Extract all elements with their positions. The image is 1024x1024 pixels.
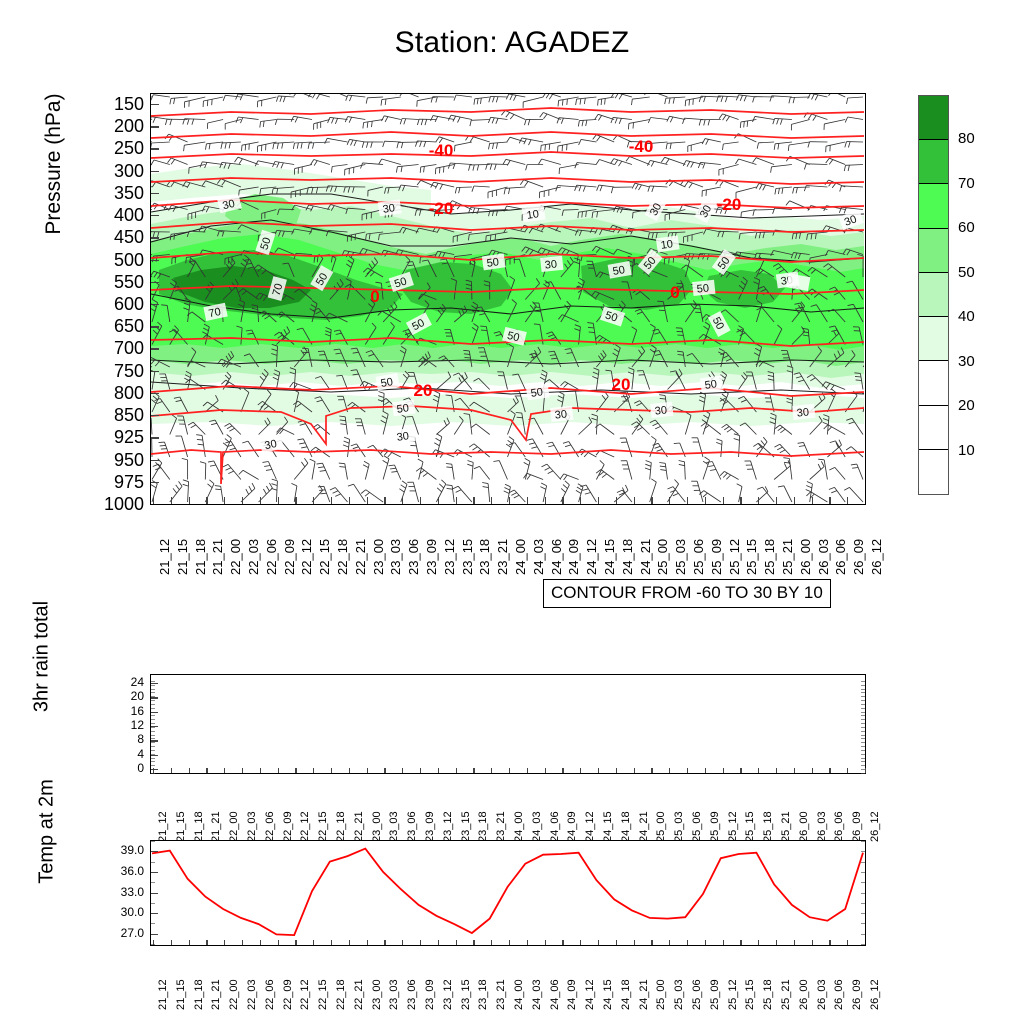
time-label-25_12: 25_12 <box>727 979 739 1010</box>
pressure-tick-250: 250 <box>88 139 144 157</box>
colorbar-band-6 <box>919 361 948 405</box>
colorbar-label-70: 70 <box>958 177 975 191</box>
pressure-tick-300: 300 <box>88 162 144 180</box>
pressure-tickmark <box>151 215 159 216</box>
time-label-24_12: 24_12 <box>584 811 596 842</box>
rain-minor-tickmark <box>151 712 155 713</box>
rain-minor-tickmark <box>151 773 155 774</box>
time-label-21_12: 21_12 <box>157 539 172 575</box>
pressure-tick-450: 450 <box>88 228 144 246</box>
time-tickmark <box>705 940 706 945</box>
time-tickmark <box>776 768 777 773</box>
time-label-25_21: 25_21 <box>780 979 792 1010</box>
time-axis-ticks <box>151 94 865 504</box>
time-tickmark <box>456 497 457 504</box>
rain-minor-tickmark <box>861 708 865 709</box>
temp-axis-label: Temp at 2m <box>36 742 59 922</box>
time-label-25_06: 25_06 <box>691 979 703 1010</box>
rain-minor-tickmark <box>861 750 865 751</box>
rain-minor-tickmark <box>861 735 865 736</box>
pressure-axis-ticks: 1502002503003504004505005506006507007508… <box>80 93 144 505</box>
time-label-23_12: 23_12 <box>442 979 454 1010</box>
pressure-tick-350: 350 <box>88 184 144 202</box>
time-label-22_15: 22_15 <box>317 811 329 842</box>
time-tickmark <box>473 940 474 945</box>
time-tickmark <box>402 497 403 504</box>
time-tickmark <box>384 768 385 773</box>
time-tickmark <box>812 768 813 773</box>
time-label-22_15: 22_15 <box>317 979 329 1010</box>
time-tickmark <box>206 497 207 504</box>
time-label-24_21: 24_21 <box>638 539 653 575</box>
temperature-2m-plot[interactable] <box>150 840 866 946</box>
time-label-26_12: 26_12 <box>869 811 881 842</box>
time-label-23_15: 23_15 <box>460 539 475 575</box>
time-label-22_09: 22_09 <box>282 979 294 1010</box>
rain-minor-tickmark <box>151 719 155 720</box>
time-tickmark <box>278 768 279 773</box>
rain-time-ticks <box>151 675 865 773</box>
time-tickmark <box>438 940 439 945</box>
time-tickmark <box>420 497 421 504</box>
time-tickmark <box>367 497 368 504</box>
time-label-21_18: 21_18 <box>193 811 205 842</box>
rain-minor-tickmark <box>151 765 155 766</box>
pressure-tick-550: 550 <box>88 273 144 291</box>
time-tickmark <box>776 497 777 504</box>
time-tickmark <box>687 768 688 773</box>
time-tickmark <box>598 940 599 945</box>
time-label-25_12: 25_12 <box>727 811 739 842</box>
pressure-tick-800: 800 <box>88 384 144 402</box>
time-label-26_06: 26_06 <box>833 979 845 1010</box>
time-tickmark <box>740 768 741 773</box>
time-label-21_18: 21_18 <box>193 979 205 1010</box>
time-label-24_21: 24_21 <box>638 811 650 842</box>
temp-minor-tickmark <box>151 841 155 842</box>
pressure-tickmark <box>151 460 159 461</box>
time-label-23_21: 23_21 <box>495 811 507 842</box>
rain-minor-tickmark <box>861 704 865 705</box>
time-tickmark <box>740 497 741 504</box>
time-label-21_21: 21_21 <box>210 539 225 575</box>
time-label-23_21: 23_21 <box>495 979 507 1010</box>
time-tickmark <box>278 497 279 504</box>
time-label-24_18: 24_18 <box>620 539 635 575</box>
time-tickmark <box>794 497 795 504</box>
time-tickmark <box>402 940 403 945</box>
time-label-23_12: 23_12 <box>442 811 454 842</box>
time-label-24_03: 24_03 <box>531 539 546 575</box>
time-tickmark <box>384 497 385 504</box>
time-label-21_15: 21_15 <box>175 539 190 575</box>
rain-tick-20: 20 <box>96 690 144 702</box>
time-label-22_12: 22_12 <box>299 539 314 575</box>
colorbar-label-30: 30 <box>958 355 975 369</box>
rain-minor-tickmark <box>151 769 155 770</box>
time-tickmark <box>562 768 563 773</box>
pressure-tick-400: 400 <box>88 206 144 224</box>
pressure-tickmark <box>151 260 159 261</box>
time-tickmark <box>313 497 314 504</box>
rain-minor-tickmark <box>151 704 155 705</box>
pressure-tickmark <box>151 237 159 238</box>
temp-minor-tickmark <box>151 893 155 894</box>
time-label-22_12: 22_12 <box>299 979 311 1010</box>
rain-minor-tickmark <box>151 742 155 743</box>
time-tickmark <box>384 940 385 945</box>
time-label-23_21: 23_21 <box>495 539 510 575</box>
rain-minor-tickmark <box>861 758 865 759</box>
time-label-26_00: 26_00 <box>798 979 810 1010</box>
time-tickmark <box>420 940 421 945</box>
time-label-26_00: 26_00 <box>798 811 810 842</box>
time-label-25_09: 25_09 <box>709 539 724 575</box>
time-tickmark <box>545 497 546 504</box>
time-label-22_12: 22_12 <box>299 811 311 842</box>
time-label-21_15: 21_15 <box>175 811 187 842</box>
time-label-26_00: 26_00 <box>798 539 813 575</box>
time-label-21_12: 21_12 <box>157 811 169 842</box>
time-tickmark <box>616 940 617 945</box>
pressure-tick-925: 925 <box>88 428 144 446</box>
time-tickmark <box>651 940 652 945</box>
rain-minor-tickmark <box>151 681 155 682</box>
colorbar-band-0 <box>919 96 948 140</box>
time-label-23_15: 23_15 <box>460 979 472 1010</box>
time-label-25_06: 25_06 <box>691 539 706 575</box>
pressure-tick-975: 975 <box>88 473 144 491</box>
rain-axis-label: 3hr rain total <box>31 577 54 737</box>
pressure-tickmark <box>151 148 159 149</box>
time-tickmark <box>669 497 670 504</box>
time-label-24_09: 24_09 <box>566 979 578 1010</box>
time-label-24_06: 24_06 <box>549 979 561 1010</box>
temp-minor-tickmark <box>861 934 865 935</box>
temp-minor-tickmark <box>861 903 865 904</box>
time-label-25_00: 25_00 <box>655 811 667 842</box>
time-tickmark <box>527 497 528 504</box>
time-label-26_03: 26_03 <box>816 979 828 1010</box>
time-label-23_06: 23_06 <box>406 811 418 842</box>
time-label-26_06: 26_06 <box>833 539 848 575</box>
time-tickmark <box>847 768 848 773</box>
time-tickmark <box>669 940 670 945</box>
time-tickmark <box>331 940 332 945</box>
time-label-21_21: 21_21 <box>210 979 222 1010</box>
time-tickmark <box>651 497 652 504</box>
temp-tick-36: 36.0 <box>88 865 144 877</box>
time-label-25_03: 25_03 <box>673 979 685 1010</box>
pressure-axis-label: Pressure (hPa) <box>42 54 66 274</box>
time-tickmark <box>723 497 724 504</box>
time-label-24_15: 24_15 <box>602 811 614 842</box>
time-label-22_18: 22_18 <box>335 811 347 842</box>
temp-tick-27: 27.0 <box>88 927 144 939</box>
rain-minor-tickmark <box>861 731 865 732</box>
rain-tick-4: 4 <box>96 748 144 760</box>
rain-tick-24: 24 <box>96 676 144 688</box>
time-label-22_18: 22_18 <box>335 539 350 575</box>
rain-tick-8: 8 <box>96 733 144 745</box>
time-label-22_21: 22_21 <box>353 539 368 575</box>
pressure-tickmark <box>151 393 159 394</box>
time-label-22_06: 22_06 <box>264 539 279 575</box>
time-tickmark <box>723 768 724 773</box>
time-tickmark <box>473 497 474 504</box>
time-label-24_06: 24_06 <box>549 811 561 842</box>
time-tickmark <box>331 497 332 504</box>
time-tickmark <box>473 768 474 773</box>
time-tickmark <box>865 940 866 945</box>
temp-minor-tickmark <box>861 872 865 873</box>
time-tickmark <box>367 940 368 945</box>
rain-total-plot[interactable] <box>150 674 866 774</box>
temp-minor-tickmark <box>151 851 155 852</box>
time-label-24_06: 24_06 <box>549 539 564 575</box>
rain-minor-tickmark <box>151 700 155 701</box>
time-label-25_15: 25_15 <box>744 811 756 842</box>
time-tickmark <box>491 497 492 504</box>
time-label-23_03: 23_03 <box>388 979 400 1010</box>
time-tickmark <box>865 768 866 773</box>
time-tickmark <box>669 768 670 773</box>
rain-minor-tickmark <box>861 769 865 770</box>
time-tickmark <box>260 768 261 773</box>
time-tickmark <box>509 497 510 504</box>
rain-minor-tickmark <box>861 692 865 693</box>
time-label-23_15: 23_15 <box>460 811 472 842</box>
colorbar-label-20: 20 <box>958 399 975 413</box>
time-label-22_06: 22_06 <box>264 979 276 1010</box>
time-tickmark <box>224 940 225 945</box>
time-tickmark <box>295 768 296 773</box>
pressure-tick-200: 200 <box>88 117 144 135</box>
time-tickmark <box>545 768 546 773</box>
pressure-tickmark <box>151 504 159 505</box>
temp-minor-tickmark <box>861 851 865 852</box>
rain-minor-tickmark <box>861 765 865 766</box>
rain-minor-tickmark <box>151 761 155 762</box>
temp-minor-tickmark <box>861 923 865 924</box>
time-label-24_00: 24_00 <box>513 979 525 1010</box>
time-label-26_06: 26_06 <box>833 811 845 842</box>
time-label-24_00: 24_00 <box>513 811 525 842</box>
time-label-26_12: 26_12 <box>869 979 881 1010</box>
time-tickmark <box>331 768 332 773</box>
time-tickmark <box>829 497 830 504</box>
time-label-26_09: 26_09 <box>851 539 866 575</box>
colorbar-band-3 <box>919 229 948 273</box>
rain-minor-tickmark <box>151 750 155 751</box>
time-label-25_06: 25_06 <box>691 811 703 842</box>
time-tickmark <box>206 768 207 773</box>
time-tickmark <box>847 497 848 504</box>
rain-minor-tickmark <box>861 685 865 686</box>
time-label-24_09: 24_09 <box>566 811 578 842</box>
pressure-tickmark <box>151 104 159 105</box>
temp-minor-tickmark <box>861 882 865 883</box>
time-tickmark <box>705 768 706 773</box>
time-label-23_09: 23_09 <box>424 539 439 575</box>
time-label-24_18: 24_18 <box>620 811 632 842</box>
rain-minor-tickmark <box>861 742 865 743</box>
time-label-23_00: 23_00 <box>371 979 383 1010</box>
time-tickmark <box>812 497 813 504</box>
pressure-tick-950: 950 <box>88 451 144 469</box>
rain-minor-tickmark <box>861 715 865 716</box>
time-label-23_06: 23_06 <box>406 539 421 575</box>
temp-minor-tickmark <box>861 862 865 863</box>
time-label-21_18: 21_18 <box>193 539 208 575</box>
time-label-25_03: 25_03 <box>673 811 685 842</box>
time-label-25_00: 25_00 <box>655 539 670 575</box>
time-label-26_12: 26_12 <box>869 539 884 575</box>
colorbar-band-2 <box>919 184 948 228</box>
temp-minor-tickmark <box>861 893 865 894</box>
time-tickmark <box>420 768 421 773</box>
time-label-22_03: 22_03 <box>246 811 258 842</box>
time-label-22_15: 22_15 <box>317 539 332 575</box>
time-label-23_18: 23_18 <box>477 539 492 575</box>
rain-tick-12: 12 <box>96 719 144 731</box>
time-label-22_21: 22_21 <box>353 979 365 1010</box>
temp-axis-ticks: 39.036.033.030.027.0 <box>88 840 144 946</box>
time-label-24_03: 24_03 <box>531 811 543 842</box>
time-label-24_21: 24_21 <box>638 979 650 1010</box>
time-tickmark <box>295 940 296 945</box>
time-label-22_09: 22_09 <box>282 811 294 842</box>
pressure-tick-1000: 1000 <box>88 495 144 513</box>
time-tickmark <box>438 768 439 773</box>
time-label-26_03: 26_03 <box>816 539 831 575</box>
rain-minor-tickmark <box>151 689 155 690</box>
sounding-timeheight-plot[interactable]: 70 70 50 50 50 50 30 30 50 50 50 50 50 5… <box>150 93 866 505</box>
colorbar-band-5 <box>919 317 948 361</box>
pressure-tickmark <box>151 415 159 416</box>
time-tickmark <box>242 497 243 504</box>
time-label-25_15: 25_15 <box>744 539 759 575</box>
pressure-tickmark <box>151 304 159 305</box>
pressure-tickmark <box>151 282 159 283</box>
time-label-25_00: 25_00 <box>655 979 667 1010</box>
time-label-21_15: 21_15 <box>175 979 187 1010</box>
time-tickmark <box>171 497 172 504</box>
time-label-22_21: 22_21 <box>353 811 365 842</box>
rain-minor-tickmark <box>151 758 155 759</box>
time-tickmark <box>171 940 172 945</box>
page-title: Station: AGADEZ <box>0 26 1024 60</box>
time-tickmark <box>580 497 581 504</box>
time-tickmark <box>829 940 830 945</box>
time-tickmark <box>349 768 350 773</box>
rain-minor-tickmark <box>861 727 865 728</box>
pressure-tick-850: 850 <box>88 406 144 424</box>
time-label-22_09: 22_09 <box>282 539 297 575</box>
time-label-24_12: 24_12 <box>584 539 599 575</box>
colorbar-band-7 <box>919 406 948 450</box>
temp-minor-tickmark <box>151 862 155 863</box>
temp-minor-tickmark <box>151 882 155 883</box>
time-tickmark <box>456 940 457 945</box>
rain-tick-16: 16 <box>96 705 144 717</box>
rain-tickmark <box>151 755 158 756</box>
temp-minor-tickmark <box>151 934 155 935</box>
rain-minor-tickmark <box>151 685 155 686</box>
time-label-21_21: 21_21 <box>210 811 222 842</box>
time-tickmark <box>794 768 795 773</box>
time-tickmark <box>616 768 617 773</box>
rain-minor-tickmark <box>861 773 865 774</box>
time-tickmark <box>545 940 546 945</box>
time-tickmark <box>562 940 563 945</box>
pressure-tickmark <box>151 348 159 349</box>
temp-time-ticks <box>151 841 865 945</box>
pressure-tickmark <box>151 326 159 327</box>
time-tickmark <box>847 940 848 945</box>
time-label-23_00: 23_00 <box>371 811 383 842</box>
pressure-tick-700: 700 <box>88 339 144 357</box>
time-label-24_03: 24_03 <box>531 979 543 1010</box>
time-tickmark <box>242 940 243 945</box>
time-tickmark <box>794 940 795 945</box>
time-tickmark <box>527 940 528 945</box>
time-label-24_15: 24_15 <box>602 979 614 1010</box>
time-label-25_03: 25_03 <box>673 539 688 575</box>
time-tickmark <box>313 940 314 945</box>
time-tickmark <box>171 768 172 773</box>
time-label-23_03: 23_03 <box>388 811 400 842</box>
time-tickmark <box>829 768 830 773</box>
time-tickmark <box>349 497 350 504</box>
temp-minor-tickmark <box>861 913 865 914</box>
colorbar-band-8 <box>919 450 948 494</box>
time-label-26_03: 26_03 <box>816 811 828 842</box>
time-label-23_09: 23_09 <box>424 979 436 1010</box>
pressure-tickmark <box>151 482 159 483</box>
rain-minor-tickmark <box>861 754 865 755</box>
time-tickmark <box>509 768 510 773</box>
time-tickmark <box>634 768 635 773</box>
pressure-tickmark <box>151 171 159 172</box>
humidity-colorbar[interactable] <box>918 95 949 495</box>
time-tickmark <box>562 497 563 504</box>
rain-minor-tickmark <box>861 746 865 747</box>
pressure-tickmark <box>151 126 159 127</box>
colorbar-band-1 <box>919 140 948 184</box>
time-tickmark <box>865 497 866 504</box>
rain-axis-ticks: 24201612840 <box>96 674 144 774</box>
time-tickmark <box>634 940 635 945</box>
rain-minor-tickmark <box>151 692 155 693</box>
rain-minor-tickmark <box>861 696 865 697</box>
time-label-25_09: 25_09 <box>709 811 721 842</box>
time-tickmark <box>616 497 617 504</box>
temp-minor-tickmark <box>861 944 865 945</box>
time-tickmark <box>758 497 759 504</box>
time-tickmark <box>242 768 243 773</box>
rain-minor-tickmark <box>861 723 865 724</box>
time-tickmark <box>402 768 403 773</box>
time-tickmark <box>598 497 599 504</box>
rain-minor-tickmark <box>861 681 865 682</box>
pressure-tickmark <box>151 371 159 372</box>
time-tickmark <box>723 940 724 945</box>
time-tickmark <box>153 497 154 504</box>
time-tickmark <box>687 497 688 504</box>
pressure-tickmark <box>151 193 159 194</box>
time-label-22_00: 22_00 <box>228 539 243 575</box>
